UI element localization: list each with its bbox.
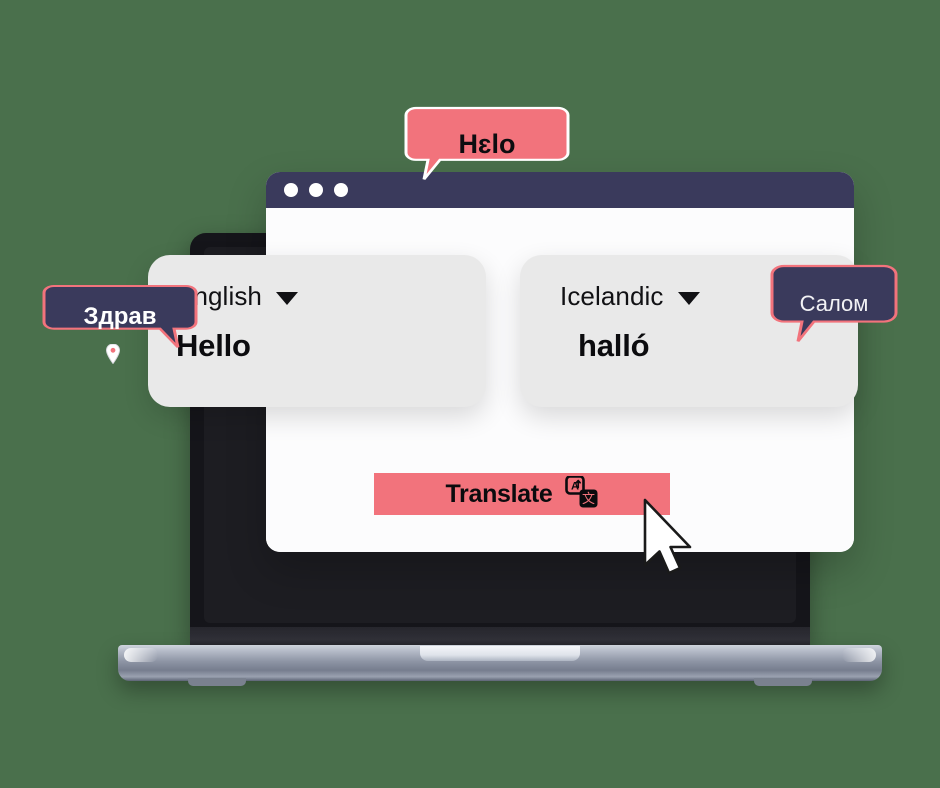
translate-button[interactable]: Translate A 文 (374, 473, 670, 515)
translate-icon: A 文 (565, 476, 599, 513)
maximize-dot-icon[interactable] (334, 183, 348, 197)
map-pin-icon (106, 344, 120, 364)
chevron-down-icon[interactable] (678, 292, 700, 305)
laptop-base (118, 645, 882, 681)
target-language-label: Icelandic (560, 281, 664, 312)
minimize-dot-icon[interactable] (309, 183, 323, 197)
laptop-base-highlight-left (124, 648, 158, 662)
illustration-scene: English Hello Icelandic halló Translate … (0, 0, 940, 788)
speech-bubble-left: Здрав (44, 286, 196, 348)
laptop-foot-left (188, 678, 246, 686)
source-language-selector[interactable]: English (176, 281, 486, 312)
speech-bubble-top: Hɛlo (406, 108, 568, 180)
speech-bubble-left-text: Здрав (83, 303, 156, 331)
laptop-base-notch (420, 646, 580, 661)
translate-button-label: Translate (445, 480, 552, 509)
speech-bubble-top-text: Hɛlo (459, 129, 516, 160)
close-dot-icon[interactable] (284, 183, 298, 197)
source-text[interactable]: Hello (176, 328, 486, 364)
speech-bubble-right: Салом (772, 266, 896, 342)
svg-text:文: 文 (582, 492, 595, 507)
speech-bubble-right-text: Салом (800, 291, 869, 317)
laptop-foot-right (754, 678, 812, 686)
source-language-card: English Hello (148, 255, 486, 407)
laptop-base-highlight-right (842, 648, 876, 662)
chevron-down-icon[interactable] (276, 292, 298, 305)
